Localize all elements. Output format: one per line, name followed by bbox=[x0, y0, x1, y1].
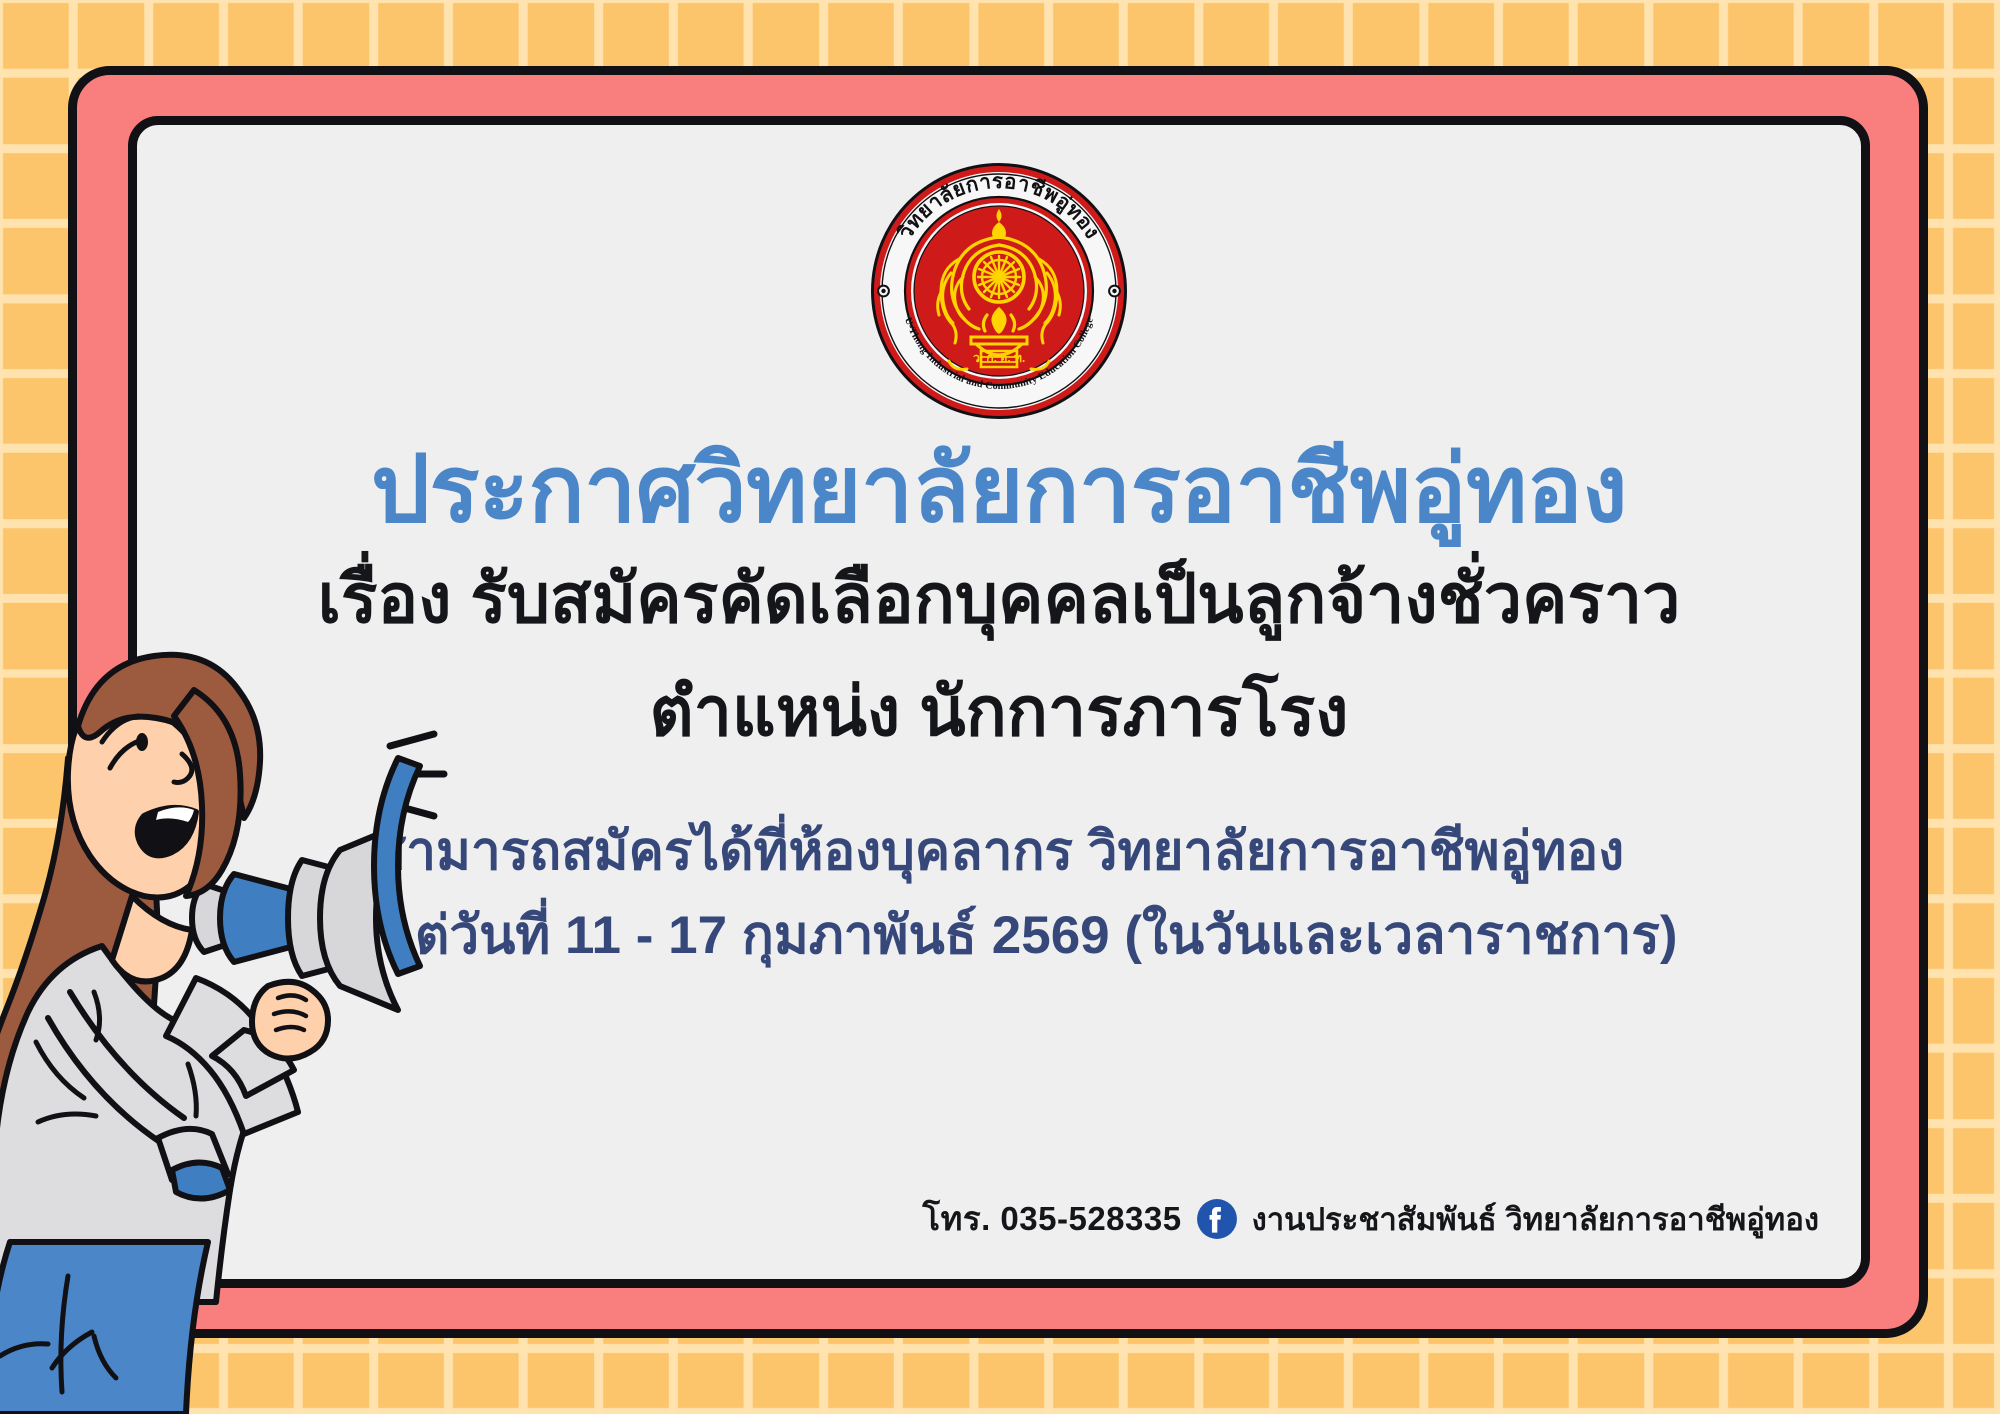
facebook-icon[interactable] bbox=[1196, 1198, 1238, 1240]
contact-footer: โทร. 035-528335 งานประชาสัมพันธ์ วิทยาลั… bbox=[922, 1192, 1819, 1245]
seal-rosette-right bbox=[1108, 285, 1121, 298]
page-title: ประกาศวิทยาลัยการอาชีพอู่ทอง bbox=[137, 443, 1861, 536]
announcement-card: วิทยาลัยการอาชีพอู่ทอง U-Thong Industria… bbox=[128, 116, 1870, 1288]
facebook-page-name: งานประชาสัมพันธ์ วิทยาลัยการอาชีพอู่ทอง bbox=[1252, 1194, 1819, 1244]
seal-abbreviation: ว. ก. อ. ท. bbox=[973, 351, 1025, 365]
apply-location-text: สามารถสมัครได้ที่ห้องบุคลากร วิทยาลัยการ… bbox=[137, 825, 1861, 878]
apply-dates-text: ตั้งแต่วันที่ 11 - 17 กุมภาพันธ์ 2569 (ใ… bbox=[137, 909, 1861, 962]
phone-number: โทร. 035-528335 bbox=[922, 1192, 1181, 1245]
announcement-poster: วิทยาลัยการอาชีพอู่ทอง U-Thong Industria… bbox=[0, 0, 2000, 1414]
seal-rosette-left bbox=[877, 285, 890, 298]
announcement-position: ตำแหน่ง นักการภารโรง bbox=[137, 678, 1861, 746]
college-seal-logo: วิทยาลัยการอาชีพอู่ทอง U-Thong Industria… bbox=[863, 155, 1135, 427]
announcement-subject: เรื่อง รับสมัครคัดเลือกบุคคลเป็นลูกจ้างช… bbox=[137, 565, 1861, 633]
